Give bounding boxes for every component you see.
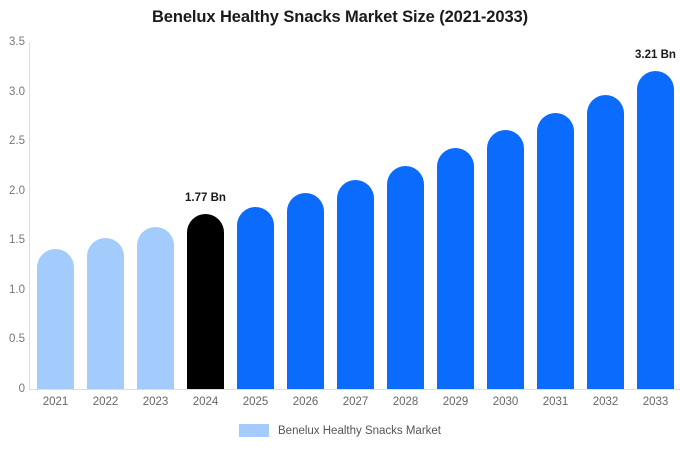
x-axis-tick-label-2023: 2023 [137, 396, 174, 408]
x-axis-tick-label-2029: 2029 [437, 396, 474, 408]
data-label-2024: 1.77 Bn [166, 192, 246, 204]
bar-chart: Benelux Healthy Snacks Market Size (2021… [0, 0, 680, 450]
bar-2033[interactable] [637, 71, 674, 389]
x-axis-tick-label-2025: 2025 [237, 396, 274, 408]
bar-column[interactable] [537, 42, 574, 389]
legend-swatch-benelux-healthy-snacks-market [239, 424, 269, 437]
bar-2030[interactable] [487, 130, 524, 389]
x-axis-tick-label-2030: 2030 [487, 396, 524, 408]
bar-2023[interactable] [137, 227, 174, 389]
x-axis-tick-label-2032: 2032 [587, 396, 624, 408]
bar-2028[interactable] [387, 166, 424, 389]
x-axis-tick-label-2021: 2021 [37, 396, 74, 408]
bar-2031[interactable] [537, 113, 574, 389]
y-axis-tick-label: 1.0 [1, 284, 25, 296]
bar-column[interactable] [287, 42, 324, 389]
bar-2021[interactable] [37, 249, 74, 389]
legend-label-benelux-healthy-snacks-market: Benelux Healthy Snacks Market [278, 425, 441, 437]
x-axis-tick-label-2033: 2033 [637, 396, 674, 408]
bar-column[interactable] [137, 42, 174, 389]
bar-column[interactable] [387, 42, 424, 389]
bar-column[interactable] [37, 42, 74, 389]
bar-2032[interactable] [587, 95, 624, 389]
y-axis-tick-label: 3.0 [1, 86, 25, 98]
bar-2024[interactable] [187, 214, 224, 389]
x-axis-line [29, 389, 680, 390]
y-axis-tick-label: 0.5 [1, 333, 25, 345]
y-axis-tick-label: 2.5 [1, 135, 25, 147]
bar-2029[interactable] [437, 148, 474, 389]
bar-2025[interactable] [237, 207, 274, 389]
bar-column[interactable] [637, 42, 674, 389]
plot-area [29, 42, 680, 389]
bar-2027[interactable] [337, 180, 374, 389]
bar-column[interactable] [187, 42, 224, 389]
bar-column[interactable] [437, 42, 474, 389]
bar-column[interactable] [337, 42, 374, 389]
bar-2026[interactable] [287, 193, 324, 389]
chart-title: Benelux Healthy Snacks Market Size (2021… [0, 8, 680, 27]
x-axis-tick-label-2026: 2026 [287, 396, 324, 408]
x-axis-tick-label-2022: 2022 [87, 396, 124, 408]
bar-column[interactable] [487, 42, 524, 389]
y-axis-tick-labels: 00.51.01.52.02.53.03.5 [0, 0, 25, 450]
y-axis-tick-label: 3.5 [1, 36, 25, 48]
y-axis-tick-label: 2.0 [1, 185, 25, 197]
x-axis-tick-label-2027: 2027 [337, 396, 374, 408]
bar-column[interactable] [237, 42, 274, 389]
chart-legend: Benelux Healthy Snacks Market [0, 424, 680, 437]
bar-column[interactable] [587, 42, 624, 389]
bar-2022[interactable] [87, 238, 124, 389]
y-axis-tick-label: 1.5 [1, 234, 25, 246]
bar-column[interactable] [87, 42, 124, 389]
x-axis-tick-label-2024: 2024 [187, 396, 224, 408]
y-axis-tick-label: 0 [1, 383, 25, 395]
data-label-2033: 3.21 Bn [616, 49, 680, 61]
x-axis-tick-label-2031: 2031 [537, 396, 574, 408]
x-axis-tick-label-2028: 2028 [387, 396, 424, 408]
